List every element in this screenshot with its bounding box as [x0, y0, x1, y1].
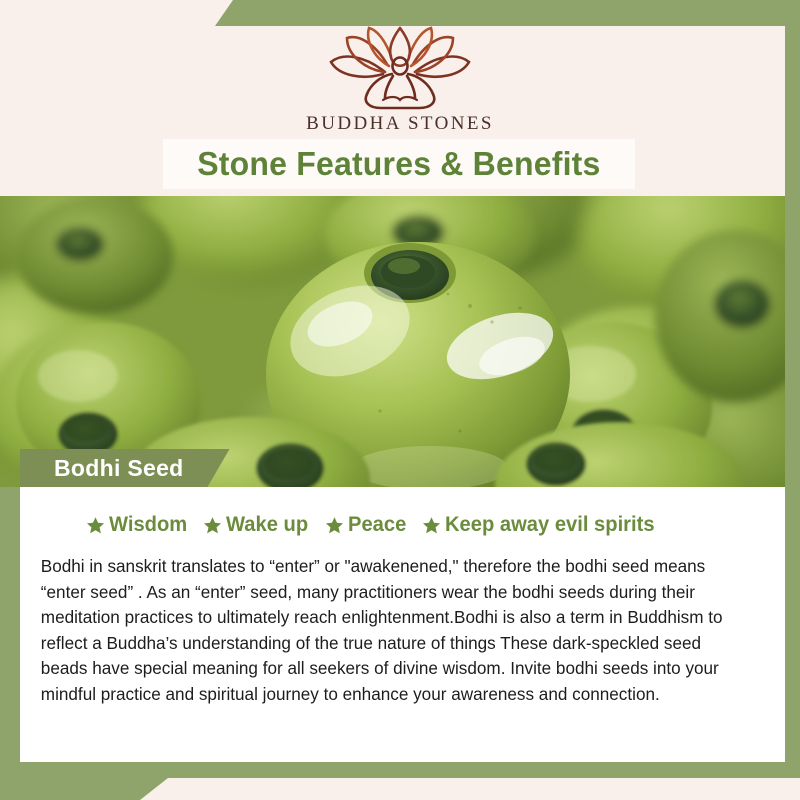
brand-logo: BUDDHA STONES	[0, 22, 800, 135]
benefit-item-wake-up: Wake up	[203, 513, 312, 537]
bottom-cream-accent-band	[140, 778, 800, 800]
page-title: Stone Features & Benefits	[197, 145, 600, 183]
product-label: Bodhi Seed	[54, 455, 184, 482]
product-infographic-poster: BUDDHA STONES Stone Features & Benefits	[0, 0, 800, 800]
benefit-label: Wisdom	[109, 513, 187, 537]
star-icon	[325, 516, 344, 535]
star-icon	[203, 516, 222, 535]
benefit-label: Peace	[348, 513, 406, 537]
product-photo	[0, 196, 785, 487]
section-title-banner: Stone Features & Benefits	[163, 139, 635, 189]
description-text: Bodhi in sanskrit translates to “enter” …	[28, 554, 764, 707]
benefit-label: Keep away evil spirits	[445, 513, 655, 537]
product-label-banner: Bodhi Seed	[20, 449, 230, 487]
benefits-list: Wisdom Wake up Peace	[28, 513, 775, 537]
star-icon	[86, 516, 105, 535]
lotus-meditation-icon	[325, 22, 475, 110]
benefit-label: Wake up	[226, 513, 308, 537]
benefit-item-keep-away-evil-spirits: Keep away evil spirits	[422, 513, 663, 537]
brand-name: BUDDHA STONES	[0, 113, 800, 135]
bodhi-bead-illustration	[0, 196, 785, 487]
description-panel: Wisdom Wake up Peace	[20, 487, 785, 762]
benefit-item-wisdom: Wisdom	[86, 513, 190, 537]
star-icon	[422, 516, 441, 535]
benefit-item-peace: Peace	[325, 513, 409, 537]
